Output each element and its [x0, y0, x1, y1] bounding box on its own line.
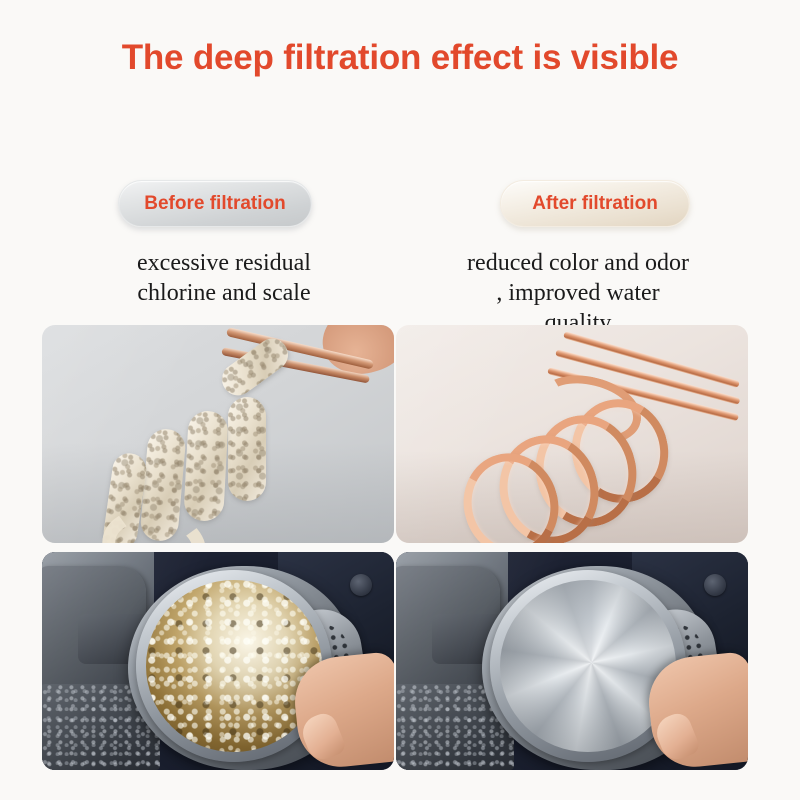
- before-caption-line-2: chlorine and scale: [38, 278, 410, 308]
- badge-before-filtration[interactable]: Before filtration: [118, 180, 312, 227]
- coil-stem-1: [396, 325, 571, 375]
- scale-deposit-coil-4: [228, 397, 266, 501]
- before-caption-line-1: excessive residual: [38, 248, 410, 278]
- scaled-heating-coil-photo: [42, 325, 394, 543]
- scale-deposit-coil-3: [183, 410, 229, 522]
- jacket-button-icon: [704, 574, 726, 596]
- after-caption-line-1: reduced color and odor: [392, 248, 764, 278]
- before-caption: excessive residual chlorine and scale: [38, 248, 410, 308]
- after-caption-line-2: , improved water: [392, 278, 764, 308]
- clean-kettle-interior-photo: [396, 552, 748, 770]
- kettle-interior-scaled: [146, 580, 322, 752]
- comparison-grid: Before filtration excessive residual chl…: [0, 0, 800, 800]
- jacket-button-icon: [350, 574, 372, 596]
- dirty-kettle-interior-photo: [42, 552, 394, 770]
- after-column: After filtration reduced color and odor …: [392, 0, 764, 800]
- kettle-interior-clean: [500, 580, 676, 752]
- clean-copper-coil-photo: [396, 325, 748, 543]
- badge-after-filtration[interactable]: After filtration: [500, 180, 690, 227]
- before-column: Before filtration excessive residual chl…: [38, 0, 410, 800]
